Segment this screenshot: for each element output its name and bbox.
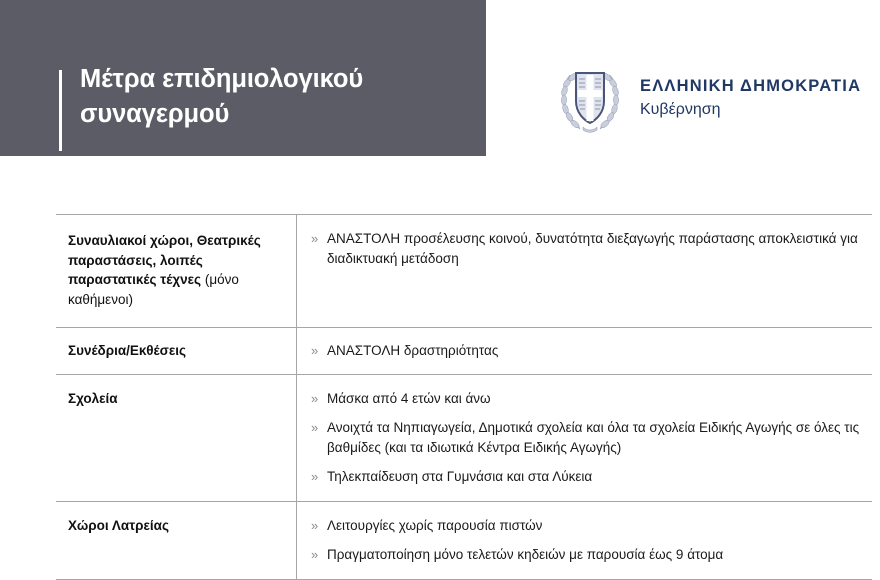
list-item: » Λειτουργίες χωρίς παρουσία πιστών <box>311 516 864 536</box>
table-row: Συνέδρια/Εκθέσεις » ΑΝΑΣΤΟΛΗ δραστηριότη… <box>56 328 872 375</box>
page-title: Μέτρα επιδημιολογικού συναγερμού <box>80 62 475 132</box>
list-item-text: Ανοιχτά τα Νηπιαγωγεία, Δημοτικά σχολεία… <box>327 418 864 457</box>
row-items-cell: » Λειτουργίες χωρίς παρουσία πιστών » Πρ… <box>297 501 873 579</box>
logo-subtitle-government: Κυβέρνηση <box>640 99 861 121</box>
measures-table: Συναυλιακοί χώροι, Θεατρικές παραστάσεις… <box>56 214 872 580</box>
row-items-cell: » ΑΝΑΣΤΟΛΗ δραστηριότητας <box>297 328 873 375</box>
list-item: » Τηλεκπαίδευση στα Γυμνάσια και στα Λύκ… <box>311 467 864 487</box>
row-category-cell: Συναυλιακοί χώροι, Θεατρικές παραστάσεις… <box>56 215 297 328</box>
list-item-text: ΑΝΑΣΤΟΛΗ προσέλευσης κοινού, δυνατότητα … <box>327 229 864 268</box>
bullet-icon: » <box>311 545 327 565</box>
list-item: » ΑΝΑΣΤΟΛΗ δραστηριότητας <box>311 341 864 361</box>
bullet-icon: » <box>311 341 327 361</box>
category-label: Χώροι Λατρείας <box>68 518 169 533</box>
list-item-text: ΑΝΑΣΤΟΛΗ δραστηριότητας <box>327 341 864 361</box>
row-items-cell: » ΑΝΑΣΤΟΛΗ προσέλευσης κοινού, δυνατότητ… <box>297 215 873 328</box>
bullet-icon: » <box>311 516 327 536</box>
list-item: » ΑΝΑΣΤΟΛΗ προσέλευσης κοινού, δυνατότητ… <box>311 229 864 268</box>
list-item: » Πραγματοποίηση μόνο τελετών κηδειών με… <box>311 545 864 565</box>
measures-table-body: Συναυλιακοί χώροι, Θεατρικές παραστάσεις… <box>56 215 872 580</box>
category-label: Συνέδρια/Εκθέσεις <box>68 343 186 358</box>
logo-title-hellenic-republic: ΕΛΛΗΝΙΚΗ ΔΗΜΟΚΡΑΤΙΑ <box>640 76 861 96</box>
bullet-icon: » <box>311 418 327 438</box>
list-item-text: Λειτουργίες χωρίς παρουσία πιστών <box>327 516 864 536</box>
table-row: Σχολεία » Μάσκα από 4 ετών και άνω » Ανο… <box>56 374 872 501</box>
list-item: » Ανοιχτά τα Νηπιαγωγεία, Δημοτικά σχολε… <box>311 418 864 457</box>
table-row: Χώροι Λατρείας » Λειτουργίες χωρίς παρου… <box>56 501 872 579</box>
logo-text-block: ΕΛΛΗΝΙΚΗ ΔΗΜΟΚΡΑΤΙΑ Κυβέρνηση <box>640 74 861 121</box>
table-row: Συναυλιακοί χώροι, Θεατρικές παραστάσεις… <box>56 215 872 328</box>
category-label: Σχολεία <box>68 391 118 406</box>
page-header: Μέτρα επιδημιολογικού συναγερμού <box>0 0 880 156</box>
row-category-cell: Συνέδρια/Εκθέσεις <box>56 328 297 375</box>
government-logo: ΕΛΛΗΝΙΚΗ ΔΗΜΟΚΡΑΤΙΑ Κυβέρνηση <box>556 61 861 133</box>
list-item: » Μάσκα από 4 ετών και άνω <box>311 389 864 409</box>
row-items-cell: » Μάσκα από 4 ετών και άνω » Ανοιχτά τα … <box>297 374 873 501</box>
row-category-cell: Σχολεία <box>56 374 297 501</box>
bullet-icon: » <box>311 467 327 487</box>
header-accent-line <box>59 70 62 151</box>
list-item-text: Πραγματοποίηση μόνο τελετών κηδειών με π… <box>327 545 864 565</box>
greek-republic-coat-of-arms-icon <box>556 61 624 133</box>
bullet-icon: » <box>311 389 327 409</box>
list-item-text: Μάσκα από 4 ετών και άνω <box>327 389 864 409</box>
bullet-icon: » <box>311 229 327 249</box>
row-category-cell: Χώροι Λατρείας <box>56 501 297 579</box>
list-item-text: Τηλεκπαίδευση στα Γυμνάσια και στα Λύκει… <box>327 467 864 487</box>
